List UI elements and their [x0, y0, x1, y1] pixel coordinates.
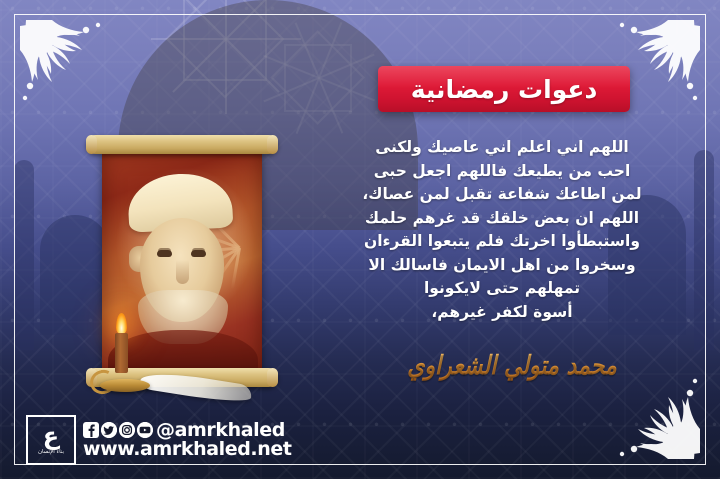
dua-line: تمهلهم حتى لايكونوا [312, 277, 692, 301]
instagram-icon[interactable] [119, 422, 135, 438]
twitter-icon[interactable] [101, 422, 117, 438]
floral-corner-ornament-top-left [12, 12, 124, 124]
facebook-icon[interactable] [83, 422, 99, 438]
logo-glyph: ع [43, 424, 59, 448]
page-title: دعوات رمضانية [411, 75, 598, 104]
candle-flame-icon [116, 313, 127, 334]
dua-line: اللهم اني اعلم اني عاصيك ولكنى [312, 136, 692, 160]
star-medallion-icon [150, 0, 300, 114]
logo-caption: بناء الإنسان [38, 450, 64, 456]
star-medallion-icon [258, 18, 378, 138]
ramadan-dua-poster: دعوات رمضانية اللهم اني اعلم اني عاصيك و… [0, 0, 720, 479]
candle-body [115, 333, 128, 373]
dua-line: اللهم ان بعض خلقك قد غرهم حلمك [312, 207, 692, 231]
dua-line: وسخروا من اهل الايمان فاسالك الا [312, 254, 692, 278]
footer-text-lines: @amrkhaled www.amrkhaled.net [83, 421, 292, 459]
social-handle[interactable]: @amrkhaled [156, 421, 285, 439]
calligraphy-signature: محمد متولي الشعراوي [404, 344, 620, 388]
youtube-icon[interactable] [137, 422, 153, 438]
shoulders-shape [108, 330, 258, 372]
candle-holder [96, 370, 152, 392]
title-banner: دعوات رمضانية [378, 66, 630, 112]
nose-shape [176, 260, 189, 284]
dua-line: أسوة لكفر غيرهم، [312, 301, 692, 325]
signature-text: محمد متولي الشعراوي [407, 351, 617, 381]
eye-left-shape [157, 250, 172, 257]
minaret-right-silhouette [694, 150, 714, 350]
social-links-row: @amrkhaled [83, 421, 292, 439]
eye-right-shape [191, 250, 206, 257]
amr-khaled-logo[interactable]: ع بناء الإنسان [26, 415, 76, 465]
website-url[interactable]: www.amrkhaled.net [83, 440, 292, 459]
dua-line: لمن اطاعك شفاعة تقبل لمن عصاك، [312, 183, 692, 207]
dua-text-block: اللهم اني اعلم اني عاصيك ولكنى احب من يط… [312, 136, 692, 324]
minaret-left-silhouette [14, 160, 34, 350]
footer-branding: ع بناء الإنسان [26, 415, 292, 465]
candle-holder-dish [100, 379, 150, 392]
dua-line: واستبطأوا اخرتك فلم يتبعوا القرءان [312, 230, 692, 254]
dua-line: احب من يطيعك فاللهم اجعل حبى [312, 160, 692, 184]
scroll-rod-top [86, 135, 278, 154]
